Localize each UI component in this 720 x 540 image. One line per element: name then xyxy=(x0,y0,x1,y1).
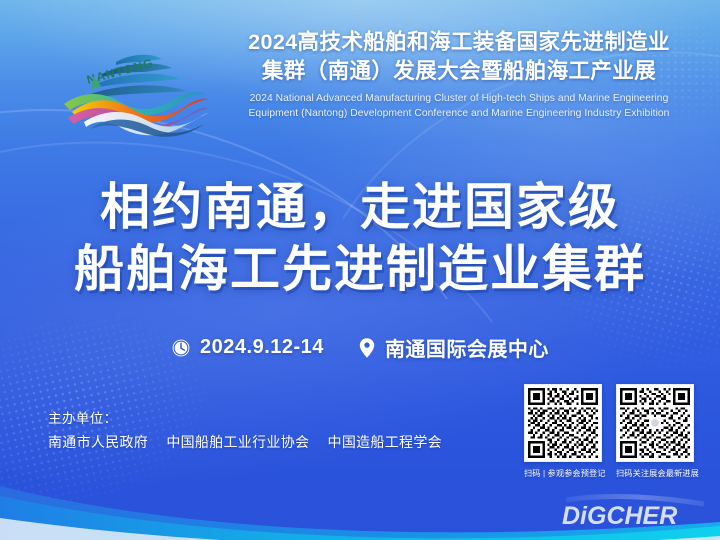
qr-code-registration-block[interactable]: 扫码 | 参观参会预登记 xyxy=(524,384,602,479)
qr-code-follow-caption: 扫码关注展会最新进展 xyxy=(616,467,694,479)
conference-header: 2024高技术船舶和海工装备国家先进制造业 集群（南通）发展大会暨船舶海工产业展… xyxy=(222,28,696,121)
qr-code-icon xyxy=(620,388,690,458)
conference-subtitle-line1: 2024 National Advanced Manufacturing Clu… xyxy=(222,91,696,106)
event-date: 2024.9.12-14 xyxy=(171,336,324,359)
main-headline: 相约南通，走进国家级 船舶海工先进制造业集群 xyxy=(0,176,720,300)
organizer-item: 南通市人民政府 xyxy=(48,434,148,450)
organizer-item: 中国船舶工业行业协会 xyxy=(166,434,309,450)
headline-line2: 船舶海工先进制造业集群 xyxy=(0,238,720,300)
location-pin-icon xyxy=(358,337,376,359)
watermark-text: DiGCHER xyxy=(562,502,677,530)
organizers-list: 南通市人民政府 中国船舶工业行业协会 中国造船工程学会 xyxy=(48,430,478,454)
digcher-watermark: DiGCHER xyxy=(558,494,708,534)
qr-code-registration[interactable] xyxy=(524,384,602,462)
event-meta: 2024.9.12-14 南通国际会展中心 xyxy=(0,333,720,362)
organizer-item: 中国造船工程学会 xyxy=(328,434,442,450)
organizers-label: 主办单位： xyxy=(48,408,478,430)
nantong-ship-wave-logo-icon: NANTONG xyxy=(58,32,208,137)
qr-code-icon xyxy=(528,388,598,458)
nantong-logo: NANTONG xyxy=(58,32,208,137)
qr-code-registration-caption: 扫码 | 参观参会预登记 xyxy=(524,467,602,479)
event-venue-text: 南通国际会展中心 xyxy=(385,333,549,362)
headline-line1: 相约南通，走进国家级 xyxy=(0,176,720,238)
qr-code-follow-updates[interactable] xyxy=(616,384,694,462)
conference-poster: NANTONG 2024高技术船舶和海工装备国家先进制造业 集群（南通）发展大会… xyxy=(0,0,720,540)
conference-title-line2: 集群（南通）发展大会暨船舶海工产业展 xyxy=(222,57,696,86)
clock-icon xyxy=(171,338,191,358)
conference-subtitle-line2: Equipment (Nantong) Development Conferen… xyxy=(222,106,696,121)
event-venue: 南通国际会展中心 xyxy=(358,333,549,362)
event-date-text: 2024.9.12-14 xyxy=(200,336,324,359)
organizers-block: 主办单位： 南通市人民政府 中国船舶工业行业协会 中国造船工程学会 xyxy=(48,408,478,454)
conference-title-line1: 2024高技术船舶和海工装备国家先进制造业 xyxy=(222,28,696,57)
qr-code-follow-block[interactable]: 扫码关注展会最新进展 xyxy=(616,384,694,479)
qr-code-zone: 扫码 | 参观参会预登记 xyxy=(524,384,694,479)
